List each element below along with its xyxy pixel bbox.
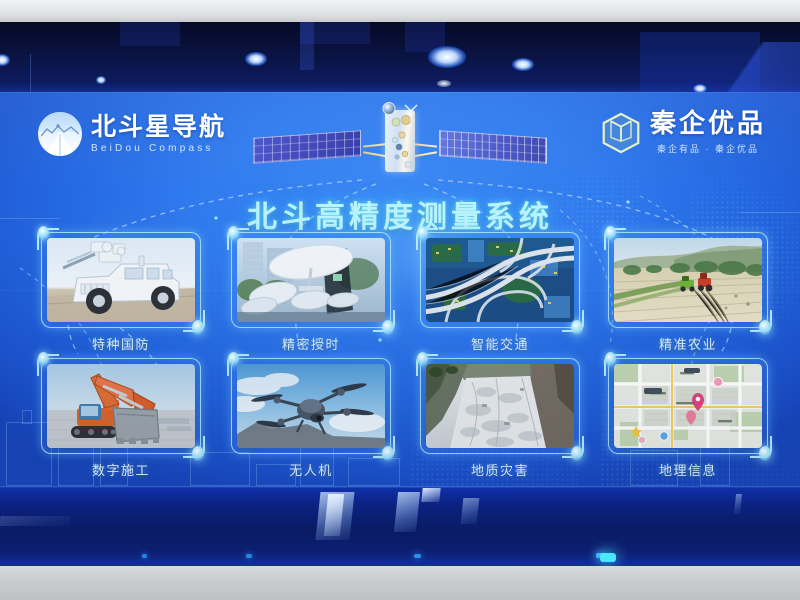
card-corner-dot: [759, 446, 771, 461]
card-precision-agriculture[interactable]: 精准农业: [608, 232, 768, 328]
harvester-in-field: [614, 238, 762, 322]
highway-interchange-aerial: [426, 238, 574, 322]
ceiling-dark-area: [0, 22, 800, 97]
brand-left: 北斗星导航 BeiDou Compass: [38, 112, 226, 156]
card-corner-dot: [228, 226, 239, 240]
card-label: 精密授时: [231, 334, 391, 353]
card-special-defense[interactable]: 特种国防: [41, 232, 201, 328]
card-drone[interactable]: 无人机: [231, 358, 391, 454]
brand-right-tagline: 秦企有品 · 秦企优品: [650, 142, 766, 155]
card-geo-hazard[interactable]: 地质灾害: [420, 358, 580, 454]
card-label: 智能交通: [420, 334, 580, 353]
solar-panel-right: [439, 130, 547, 164]
ceiling-spot-light: [96, 76, 106, 84]
floor-led-light: [142, 554, 147, 558]
card-corner-dot: [382, 446, 394, 461]
brand-right: 秦企优品 秦企有品 · 秦企优品: [601, 110, 766, 155]
solar-panel-left: [253, 130, 361, 164]
satellite-dish-array: [237, 238, 385, 322]
armored-defense-vehicle: [47, 238, 195, 322]
card-corner-dot: [605, 352, 616, 366]
ceiling-spot-light: [428, 46, 466, 68]
card-geo-information[interactable]: 地理信息: [608, 358, 768, 454]
card-label: 数字施工: [41, 460, 201, 479]
exhibition-hall-scene: 北斗星导航 BeiDou Compass 秦企优品 秦企有品 · 秦企优品: [0, 0, 800, 600]
card-corner-dot: [382, 320, 394, 335]
led-video-wall: 北斗星导航 BeiDou Compass 秦企优品 秦企有品 · 秦企优品: [0, 92, 800, 490]
landslide-debris-flow: [426, 364, 574, 448]
card-corner-dot: [571, 320, 583, 335]
card-digital-construction[interactable]: 数字施工: [41, 358, 201, 454]
card-precise-timing[interactable]: 精密授时: [231, 232, 391, 328]
beidou-mountain-road-circle-icon: [38, 112, 82, 156]
beidou-satellite-icon: [255, 104, 545, 190]
quadcopter-drone-in-sky: [237, 364, 385, 448]
card-label: 无人机: [231, 460, 391, 479]
city-street-map-with-pins: [614, 364, 762, 448]
floor-led-light: [600, 553, 616, 562]
ceiling-spot-light: [0, 54, 10, 66]
card-corner-dot: [605, 226, 616, 240]
card-corner-dot: [417, 352, 428, 366]
card-label: 特种国防: [41, 334, 201, 353]
card-corner-dot: [759, 320, 771, 335]
card-corner-dot: [38, 226, 49, 240]
ceiling-spot-light: [437, 80, 451, 87]
brand-left-name-en: BeiDou Compass: [91, 143, 226, 154]
brand-right-name-cn: 秦企优品: [650, 110, 766, 137]
exhibition-hall-floor: [0, 566, 800, 600]
card-corner-dot: [192, 320, 204, 335]
floor-led-light: [246, 554, 252, 558]
card-label: 地质灾害: [420, 460, 580, 479]
brand-left-name-cn: 北斗星导航: [91, 114, 226, 140]
cube-box-outline-icon: [601, 111, 641, 155]
ceiling-spot-light: [245, 52, 267, 66]
parabolic-antenna: [383, 102, 396, 115]
orange-excavator: [47, 364, 195, 448]
card-corner-dot: [571, 446, 583, 461]
card-corner-dot: [228, 352, 239, 366]
card-smart-traffic[interactable]: 智能交通: [420, 232, 580, 328]
ceiling-top-strip: [0, 0, 800, 22]
floor-led-light: [414, 554, 421, 558]
city-wireframe-decoration: [22, 410, 32, 424]
satellite-antenna-mast: [403, 104, 419, 127]
card-corner-dot: [417, 226, 428, 240]
card-corner-dot: [192, 446, 204, 461]
reflective-glass-balustrade: [0, 488, 800, 566]
card-label: 精准农业: [608, 334, 768, 353]
page-title: 北斗高精度测量系统: [0, 192, 800, 236]
card-corner-dot: [38, 352, 49, 366]
card-label: 地理信息: [608, 460, 768, 479]
ceiling-spot-light: [512, 58, 534, 71]
